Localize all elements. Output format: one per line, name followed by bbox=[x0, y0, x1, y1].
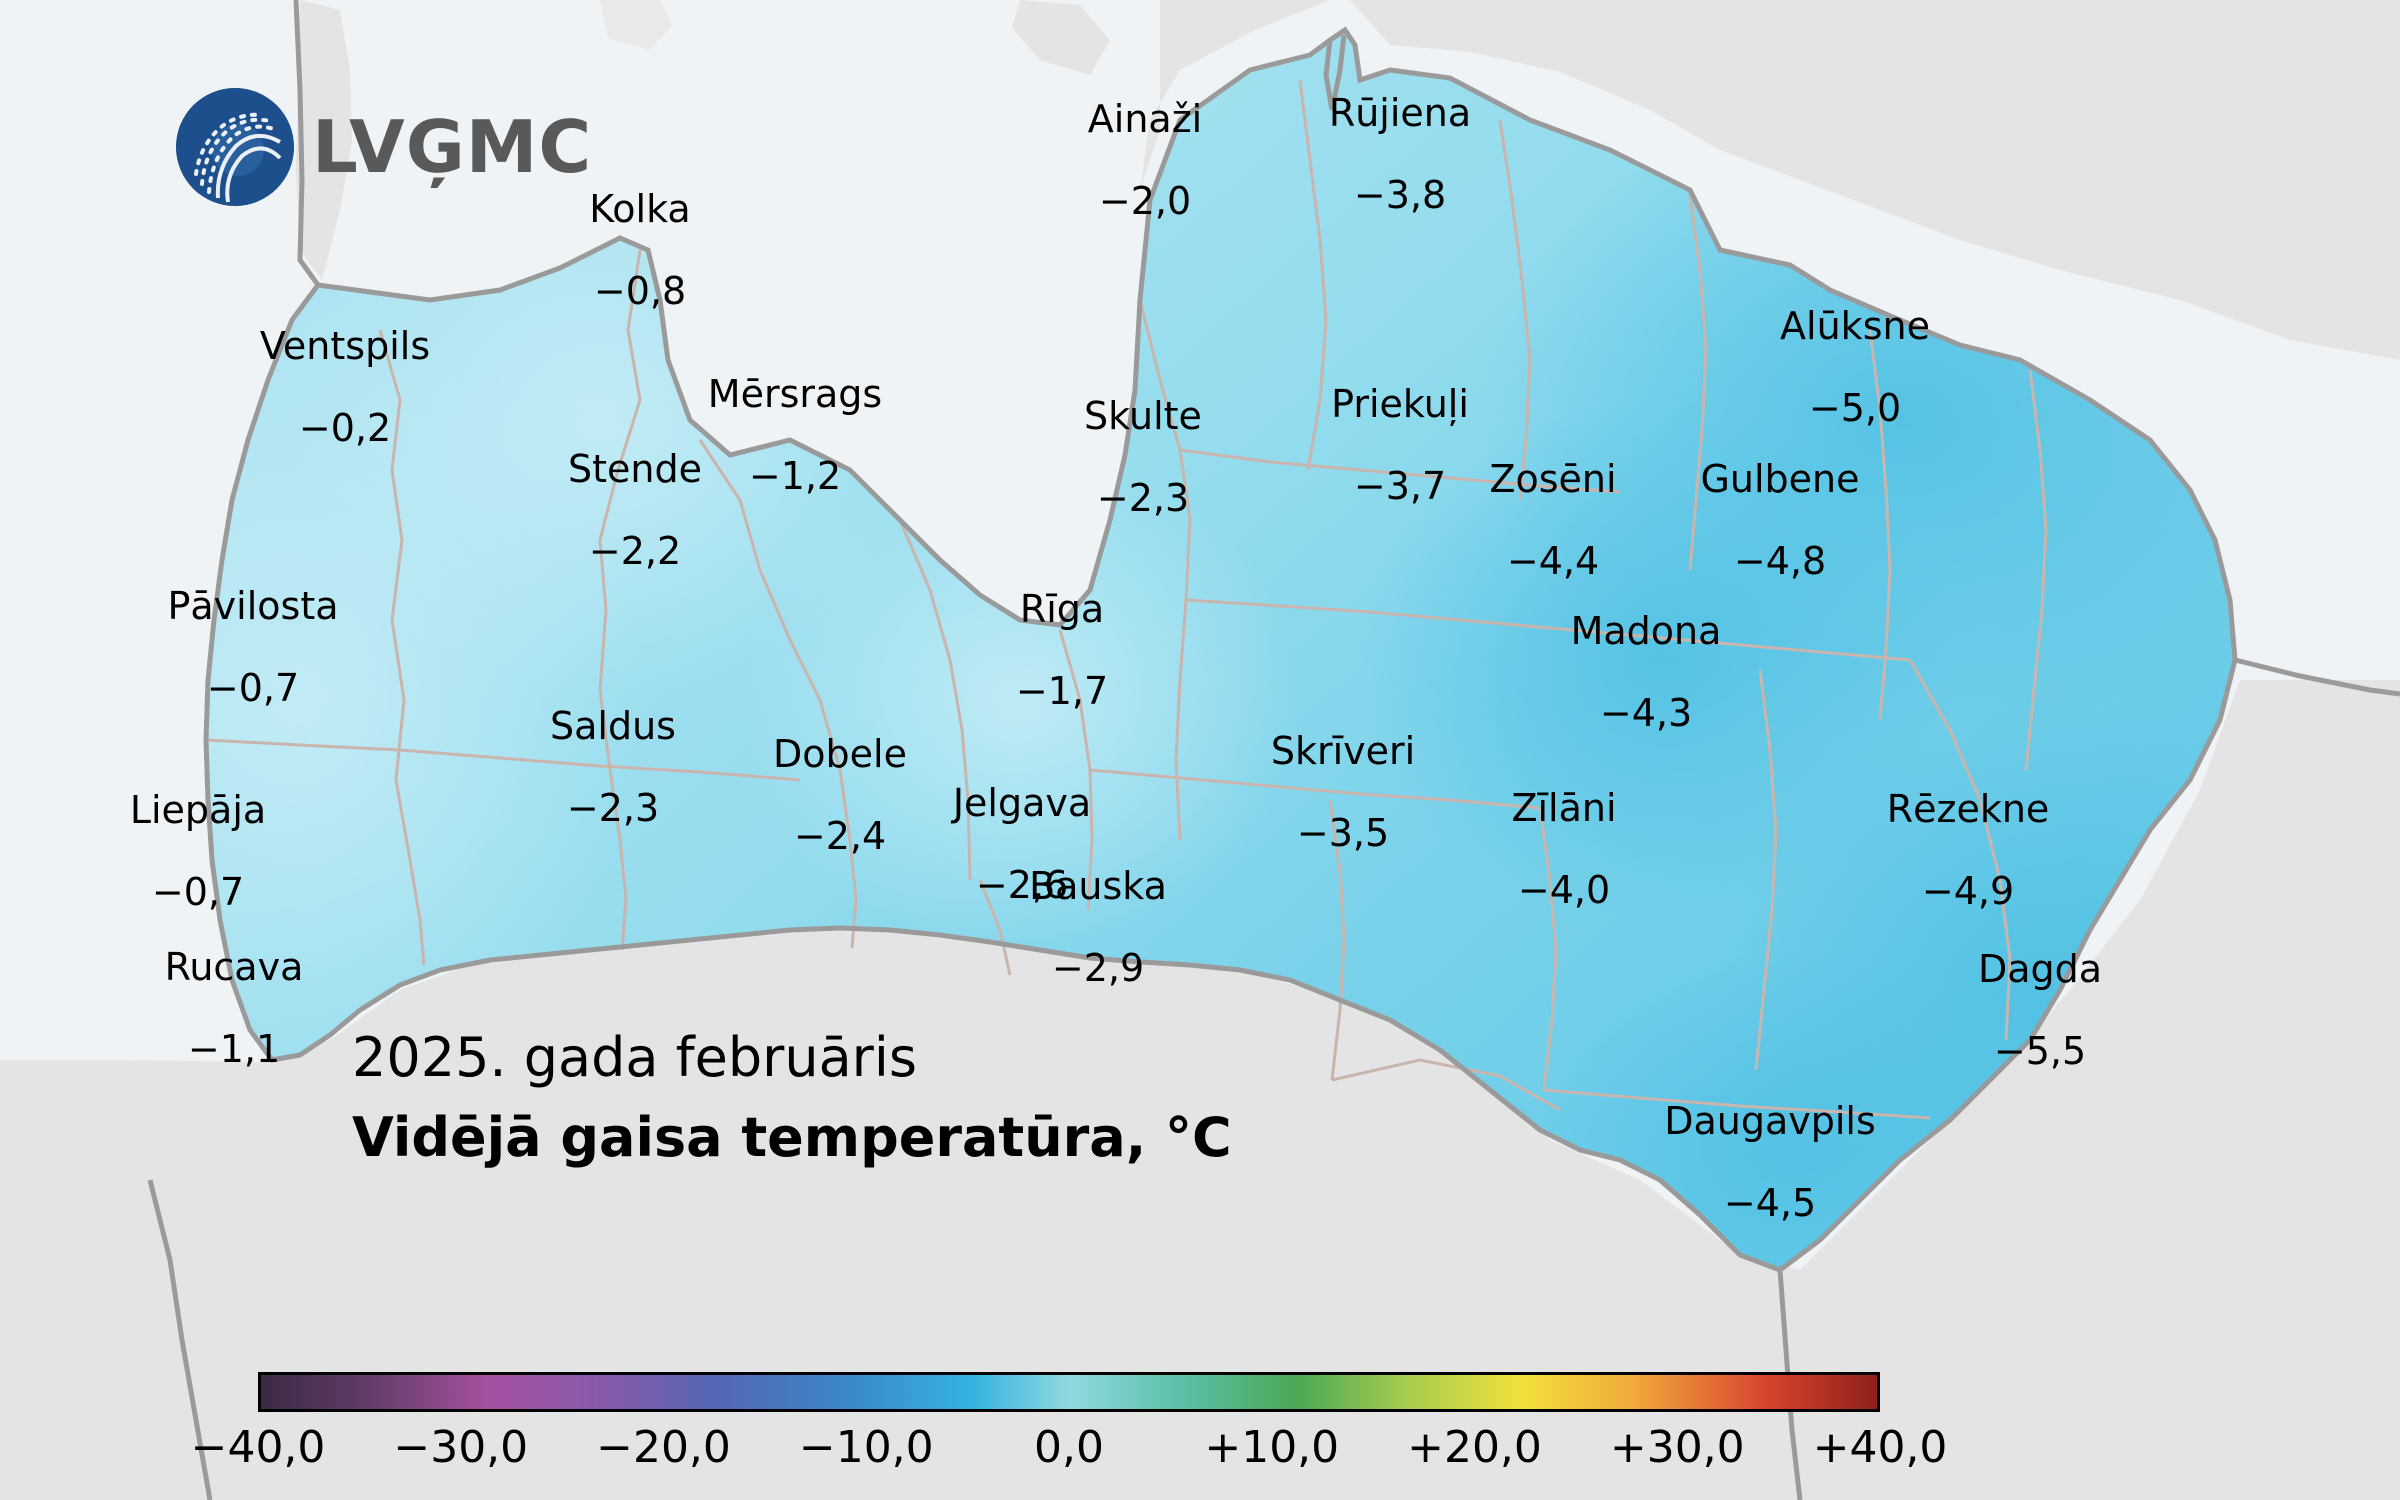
station-value-label: −4,8 bbox=[1734, 542, 1826, 580]
station-value-label: −1,1 bbox=[188, 1030, 280, 1068]
station-name-label: Dagda bbox=[1978, 950, 2102, 988]
station-value-label: −3,7 bbox=[1354, 467, 1446, 505]
station-name-label: Dobele bbox=[773, 735, 907, 773]
colorbar-tick: +30,0 bbox=[1610, 1422, 1745, 1473]
map-title-block: 2025. gada februāris Vidējā gaisa temper… bbox=[352, 1024, 1232, 1171]
station-name-label: Jelgava bbox=[953, 784, 1091, 822]
station-name-label: Ventspils bbox=[260, 327, 430, 365]
station-value-label: −4,4 bbox=[1507, 542, 1599, 580]
station-name-label: Bauska bbox=[1029, 867, 1167, 905]
colorbar-gradient bbox=[258, 1372, 1880, 1412]
station-name-label: Stende bbox=[568, 450, 702, 488]
latvia-temperature-map bbox=[0, 0, 2400, 1500]
station-value-label: −4,9 bbox=[1922, 872, 2014, 910]
station-value-label: −5,0 bbox=[1809, 389, 1901, 427]
station-name-label: Priekuļi bbox=[1331, 385, 1469, 423]
station-value-label: −2,2 bbox=[589, 532, 681, 570]
station-value-label: −0,8 bbox=[594, 272, 686, 310]
station-name-label: Ainaži bbox=[1088, 100, 1202, 138]
station-value-label: −4,3 bbox=[1600, 694, 1692, 732]
colorbar-tick: −20,0 bbox=[596, 1422, 731, 1473]
colorbar-tick: +20,0 bbox=[1407, 1422, 1542, 1473]
colorbar-tick: −40,0 bbox=[191, 1422, 326, 1473]
colorbar-tick: 0,0 bbox=[1034, 1422, 1104, 1473]
station-value-label: −0,2 bbox=[299, 409, 391, 447]
station-name-label: Rucava bbox=[165, 948, 304, 986]
colorbar-tick: −10,0 bbox=[799, 1422, 934, 1473]
colorbar-tick-labels: −40,0−30,0−20,0−10,00,0+10,0+20,0+30,0+4… bbox=[258, 1422, 1880, 1482]
colorbar-tick: −30,0 bbox=[393, 1422, 528, 1473]
station-name-label: Madona bbox=[1571, 612, 1722, 650]
station-name-label: Kolka bbox=[589, 190, 690, 228]
station-value-label: −2,9 bbox=[1052, 949, 1144, 987]
station-name-label: Zosēni bbox=[1489, 460, 1616, 498]
station-name-label: Alūksne bbox=[1780, 307, 1930, 345]
station-value-label: −2,3 bbox=[1097, 479, 1189, 517]
station-name-label: Gulbene bbox=[1700, 460, 1859, 498]
colorbar-tick: +40,0 bbox=[1813, 1422, 1948, 1473]
station-name-label: Saldus bbox=[550, 707, 676, 745]
period-title: 2025. gada februāris bbox=[352, 1024, 1232, 1092]
station-name-label: Zīlāni bbox=[1511, 789, 1616, 827]
quantity-title: Vidējā gaisa temperatūra, °C bbox=[352, 1104, 1232, 1172]
station-name-label: Skulte bbox=[1084, 397, 1202, 435]
station-value-label: −3,5 bbox=[1297, 814, 1389, 852]
lvgmc-circular-waves-icon bbox=[176, 88, 294, 206]
station-name-label: Rūjiena bbox=[1329, 94, 1471, 132]
station-name-label: Rīga bbox=[1020, 590, 1104, 628]
station-value-label: −2,0 bbox=[1099, 182, 1191, 220]
lvgmc-logo: LVĢMC bbox=[176, 88, 592, 206]
station-value-label: −4,0 bbox=[1518, 871, 1610, 909]
station-value-label: −3,8 bbox=[1354, 176, 1446, 214]
station-value-label: −0,7 bbox=[207, 669, 299, 707]
station-name-label: Liepāja bbox=[130, 791, 266, 829]
station-value-label: −5,5 bbox=[1994, 1032, 2086, 1070]
station-value-label: −0,7 bbox=[152, 873, 244, 911]
station-name-label: Mērsrags bbox=[708, 375, 882, 413]
station-value-label: −2,4 bbox=[794, 817, 886, 855]
colorbar: −40,0−30,0−20,0−10,00,0+10,0+20,0+30,0+4… bbox=[258, 1372, 1880, 1482]
colorbar-tick: +10,0 bbox=[1204, 1422, 1339, 1473]
station-value-label: −4,5 bbox=[1724, 1184, 1816, 1222]
station-value-label: −1,2 bbox=[749, 457, 841, 495]
station-name-label: Rēzekne bbox=[1887, 790, 2050, 828]
weather-map-page: LVĢMC Kolka−0,8Ventspils−0,2Mērsrags−1,2… bbox=[0, 0, 2400, 1500]
station-name-label: Pāvilosta bbox=[167, 587, 338, 625]
lvgmc-wordmark: LVĢMC bbox=[312, 111, 592, 183]
station-value-label: −2,3 bbox=[567, 789, 659, 827]
station-name-label: Daugavpils bbox=[1664, 1102, 1876, 1140]
station-name-label: Skrīveri bbox=[1271, 732, 1415, 770]
station-value-label: −1,7 bbox=[1016, 672, 1108, 710]
